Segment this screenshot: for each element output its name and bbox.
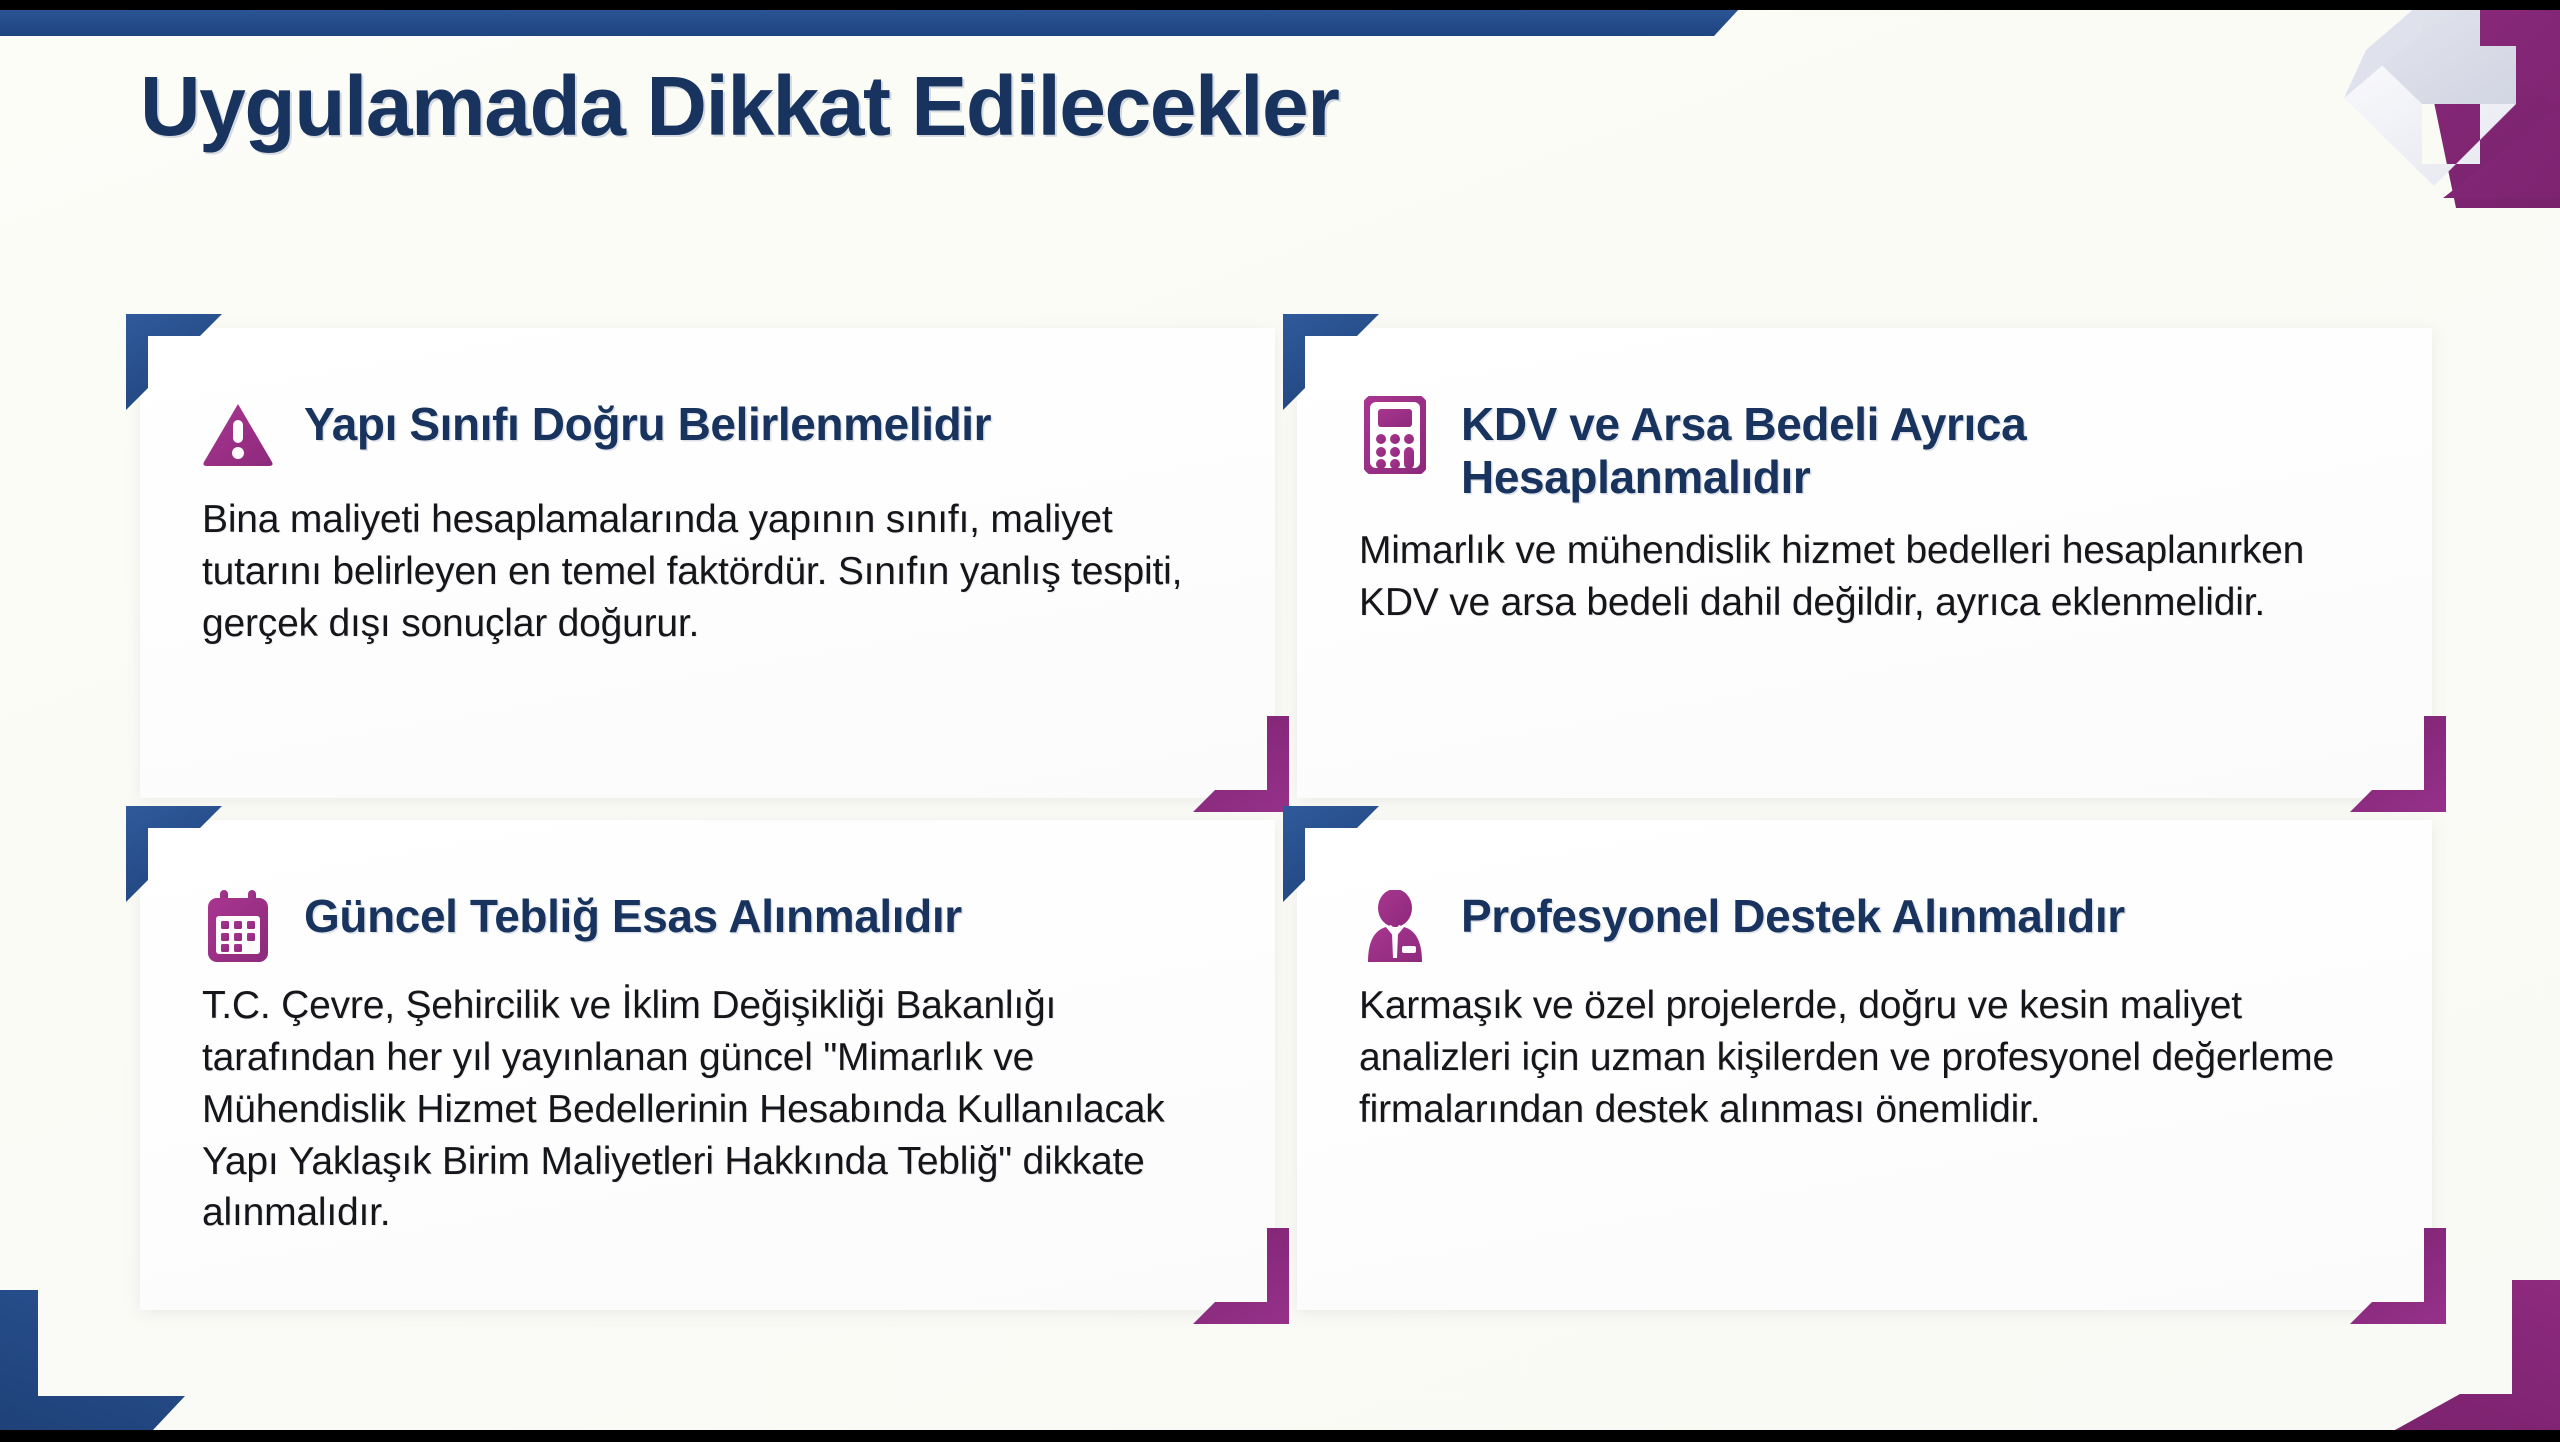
card-kdv-arsa-bedeli[interactable]: KDV ve Arsa Bedeli Ayrıca Hesaplanmalıdı… [1297, 328, 2432, 798]
slide-canvas: Uygulamada Dikkat Edilecekler Yapı S [0, 0, 2560, 1442]
card-corner-bottom-right-decoration [2350, 1228, 2446, 1324]
blue-corner-bracket-decoration [0, 1290, 185, 1430]
card-title: Profesyonel Destek Alınmalıdır [1461, 886, 2125, 943]
card-corner-bottom-right-decoration [1193, 716, 1289, 812]
card-corner-bottom-right-decoration [1193, 1228, 1289, 1324]
card-grid: Yapı Sınıfı Doğru Belirlenmelidir Bina m… [140, 328, 2420, 1310]
card-body-text: T.C. Çevre, Şehircilik ve İklim Değişikl… [202, 980, 1213, 1239]
businessperson-icon [1359, 888, 1431, 966]
card-guncel-teblig[interactable]: Güncel Tebliğ Esas Alınmalıdır T.C. Çevr… [140, 820, 1275, 1310]
grey-diamond-arrow-icon [2304, 0, 2534, 209]
card-header: Güncel Tebliğ Esas Alınmalıdır [202, 886, 1213, 966]
card-body-text: Karmaşık ve özel projelerde, doğru ve ke… [1359, 980, 2370, 1136]
blue-ribbon-bar-decoration [0, 8, 1740, 36]
calculator-icon [1359, 396, 1431, 474]
letterbox-band-bottom [0, 1430, 2560, 1442]
card-header: Yapı Sınıfı Doğru Belirlenmelidir [202, 394, 1213, 474]
card-profesyonel-destek[interactable]: Profesyonel Destek Alınmalıdır Karmaşık … [1297, 820, 2432, 1310]
card-corner-bottom-right-decoration [2350, 716, 2446, 812]
page-title: Uygulamada Dikkat Edilecekler [140, 58, 1338, 155]
card-body-text: Mimarlık ve mühendislik hizmet bedelleri… [1359, 525, 2370, 629]
card-title: Güncel Tebliğ Esas Alınmalıdır [304, 886, 962, 943]
warning-triangle-icon [202, 396, 274, 474]
card-header: Profesyonel Destek Alınmalıdır [1359, 886, 2370, 966]
card-yapi-sinifi[interactable]: Yapı Sınıfı Doğru Belirlenmelidir Bina m… [140, 328, 1275, 798]
card-title: KDV ve Arsa Bedeli Ayrıca Hesaplanmalıdı… [1461, 394, 2370, 505]
card-title: Yapı Sınıfı Doğru Belirlenmelidir [304, 394, 991, 451]
letterbox-band-top [0, 0, 2560, 10]
card-body-text: Bina maliyeti hesaplamalarında yapının s… [202, 494, 1213, 650]
card-header: KDV ve Arsa Bedeli Ayrıca Hesaplanmalıdı… [1359, 394, 2370, 505]
calendar-icon [202, 888, 274, 966]
